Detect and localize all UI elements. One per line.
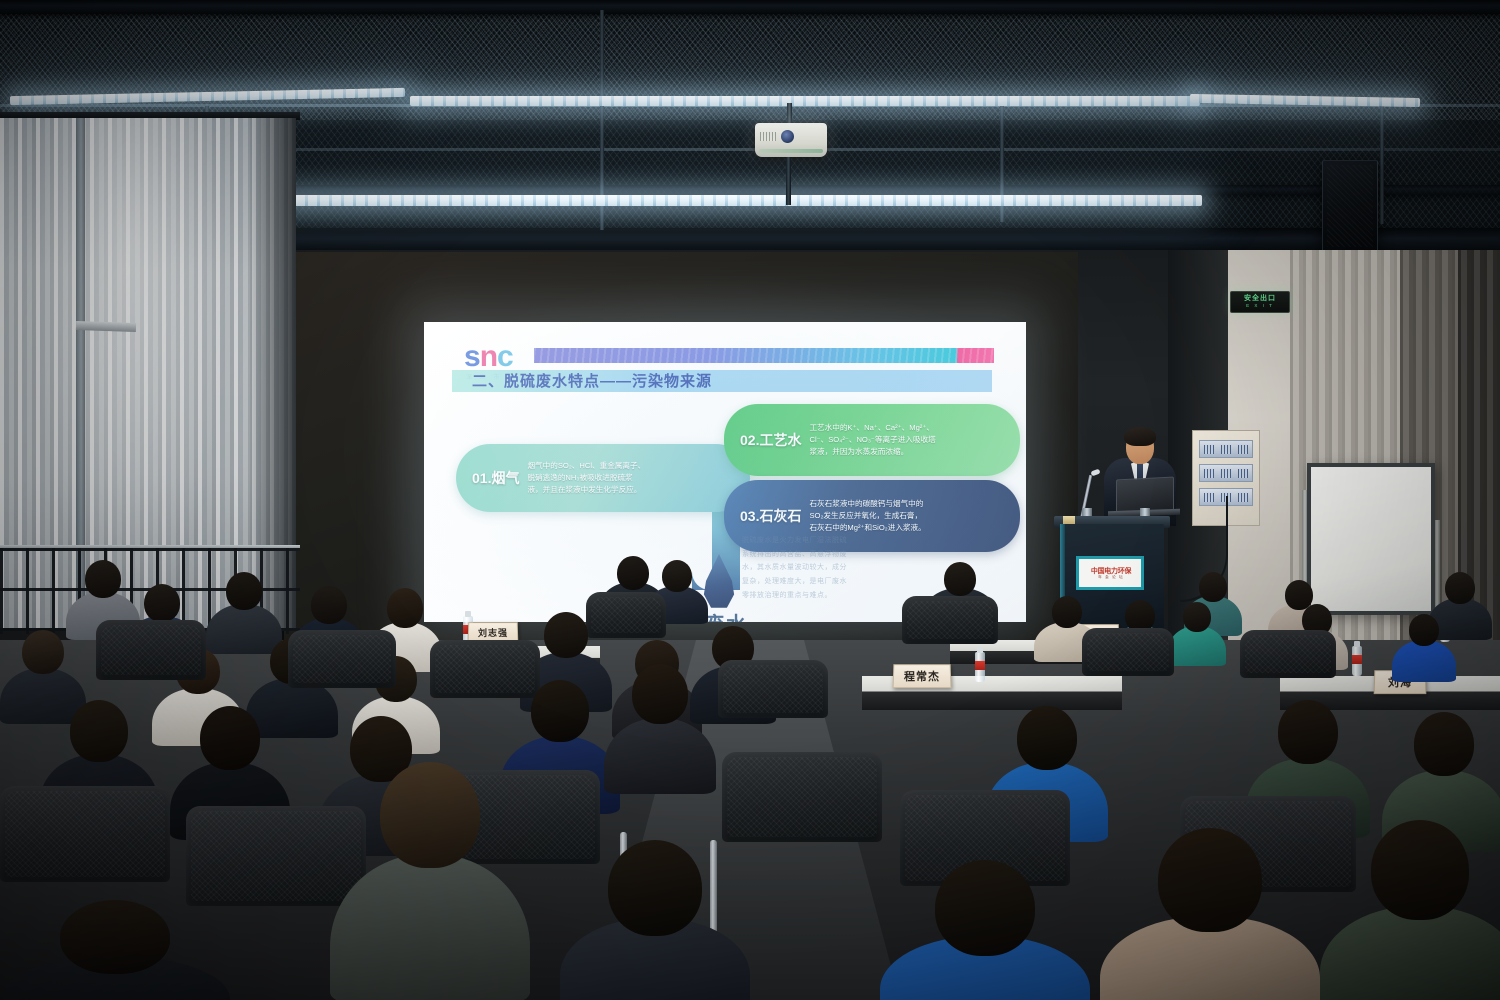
chair[interactable] (1082, 628, 1174, 676)
audience-member (1168, 602, 1226, 664)
projector-vent (760, 132, 776, 141)
switch-icon[interactable] (1238, 445, 1248, 454)
ceiling-beam (0, 0, 1500, 14)
ceiling-post (1380, 104, 1384, 224)
projector-drop-pole (786, 157, 791, 205)
audience-member (1320, 820, 1500, 1000)
bubble-line: 烟气中的SO₂、HCl、重金属离子、 (527, 460, 645, 472)
chair[interactable] (0, 786, 170, 882)
slide-title: 二、脱硫废水特点——污染物来源 (472, 372, 992, 392)
source-bubble-smoke: 01.烟气 烟气中的SO₂、HCl、重金属离子、 脱硝逃逸的NH₃被吸收进脱硫浆… (456, 444, 750, 512)
switch-icon[interactable] (1204, 445, 1214, 454)
projector-accent-strip (759, 149, 823, 153)
audience-member (880, 860, 1090, 1000)
chair[interactable] (722, 752, 882, 842)
audience-member (1100, 828, 1320, 1000)
person-head (1371, 820, 1469, 920)
footer-line: 系统排出的高含盐、高悬浮物废 (742, 548, 1004, 562)
person-shoulders (1168, 626, 1226, 666)
bubble-body: 石灰石浆液中的碳酸钙与烟气中的 SO₂发生反应并氧化，生成石膏， 石灰石中的Mg… (809, 498, 939, 534)
person-head (1158, 828, 1262, 932)
person-head (85, 560, 121, 598)
chair[interactable] (288, 630, 396, 688)
person-head (1052, 596, 1082, 628)
bubble-line: 液，并且在浆液中发生化学反应。 (527, 484, 645, 496)
switch-icon[interactable] (1238, 493, 1248, 502)
person-head (380, 762, 480, 868)
chair[interactable] (96, 620, 206, 680)
bubble-line: 浆液，并因为水蒸发而浓缩。 (809, 446, 935, 458)
person-head (531, 680, 589, 742)
person-head (144, 584, 180, 622)
chair[interactable] (902, 596, 998, 644)
switch-icon[interactable] (1221, 469, 1231, 478)
logo-letter-n: n (480, 340, 497, 373)
bubble-line: Cl⁻、SO₄²⁻、NO₃⁻等离子进入吸收塔 (809, 434, 935, 446)
switch-icon[interactable] (1204, 469, 1214, 478)
logo-letter-s: s (464, 340, 480, 373)
person-head (226, 572, 262, 610)
water-bottle[interactable] (1352, 646, 1362, 676)
bubble-tag: 02.工艺水 (724, 430, 809, 450)
water-bottle[interactable] (975, 652, 985, 682)
audience-member (1392, 614, 1456, 680)
person-head (632, 664, 688, 724)
slide-header-bar-texture (534, 348, 994, 363)
person-head (200, 706, 260, 770)
bubble-line: 石灰石中的Mg²⁺和SiO₂进入浆液。 (809, 522, 925, 534)
bubble-tag: 03.石灰石 (724, 506, 809, 526)
switch-icon[interactable] (1238, 469, 1248, 478)
person-head (1183, 602, 1211, 632)
exit-sign-chinese-label: 安全出口 (1244, 295, 1276, 303)
ceiling-speaker (1322, 160, 1378, 252)
bubble-line: 脱硝逃逸的NH₃被吸收进脱硫浆 (527, 472, 645, 484)
podium-banner-subtitle: 年 会 论 坛 (1080, 575, 1142, 580)
switch-icon[interactable] (1221, 445, 1231, 454)
person-head (1017, 706, 1077, 770)
chair[interactable] (718, 660, 828, 718)
person-head (935, 860, 1035, 956)
projector-lens-icon (781, 130, 794, 143)
person-head (22, 630, 64, 674)
person-head (1409, 614, 1439, 646)
person-head (544, 612, 588, 658)
bubble-body: 工艺水中的K⁺、Na⁺、Ca²⁺、Mg²⁺、 Cl⁻、SO₄²⁻、NO₃⁻等离子… (809, 422, 949, 458)
bubble-tag: 01.烟气 (456, 468, 527, 488)
logo-letter-c: c (497, 340, 513, 373)
person-shoulders (1392, 640, 1456, 682)
person-head (387, 588, 423, 628)
chair[interactable] (1240, 630, 1336, 678)
conference-room-photo: 安全出口 E X I T snc 深 圳 市 能 源 二、脱硫废水特点——污染物… (0, 0, 1500, 1000)
person-head (944, 562, 976, 596)
bubble-body: 烟气中的SO₂、HCl、重金属离子、 脱硝逃逸的NH₃被吸收进脱硫浆 液，并且在… (527, 460, 659, 496)
emergency-exit-sign: 安全出口 E X I T (1230, 291, 1290, 313)
bubble-line: 工艺水中的K⁺、Na⁺、Ca²⁺、Mg²⁺、 (809, 422, 935, 434)
audience-member (604, 664, 716, 790)
audience-member (0, 900, 230, 1000)
person-head (1445, 572, 1475, 604)
bubble-line: 石灰石浆液中的碳酸钙与烟气中的 (809, 498, 925, 510)
person-head (1414, 712, 1474, 776)
source-bubble-process-water: 02.工艺水 工艺水中的K⁺、Na⁺、Ca²⁺、Mg²⁺、 Cl⁻、SO₄²⁻、… (724, 404, 1020, 476)
control-row[interactable] (1199, 464, 1253, 482)
person-head (617, 556, 649, 590)
exit-sign-english-label: E X I T (1246, 303, 1274, 309)
person-head (311, 586, 347, 624)
person-head (70, 700, 128, 762)
bubble-line: SO₂发生反应并氧化，生成石膏， (809, 510, 925, 522)
ceiling-light-strip (272, 195, 1202, 206)
audience-member (560, 840, 750, 1000)
control-row[interactable] (1199, 440, 1253, 458)
person-head (608, 840, 702, 936)
footer-line: 脱硫废水是火力发电厂湿法脱硫 (742, 534, 1004, 548)
company-logo: snc (464, 342, 513, 372)
person-shoulders (1320, 906, 1500, 1000)
ceiling-projector (755, 123, 827, 157)
person-head (60, 900, 170, 974)
nameplate: 程常杰 (893, 664, 952, 688)
person-head (1278, 700, 1338, 764)
person-head (1199, 572, 1227, 602)
ceiling-light-strip (410, 96, 1200, 106)
person-shoulders (330, 854, 530, 1000)
presenter-hair (1124, 427, 1156, 446)
person-shoulders (604, 718, 716, 794)
audience-member (330, 762, 530, 1000)
person-head (662, 560, 692, 592)
